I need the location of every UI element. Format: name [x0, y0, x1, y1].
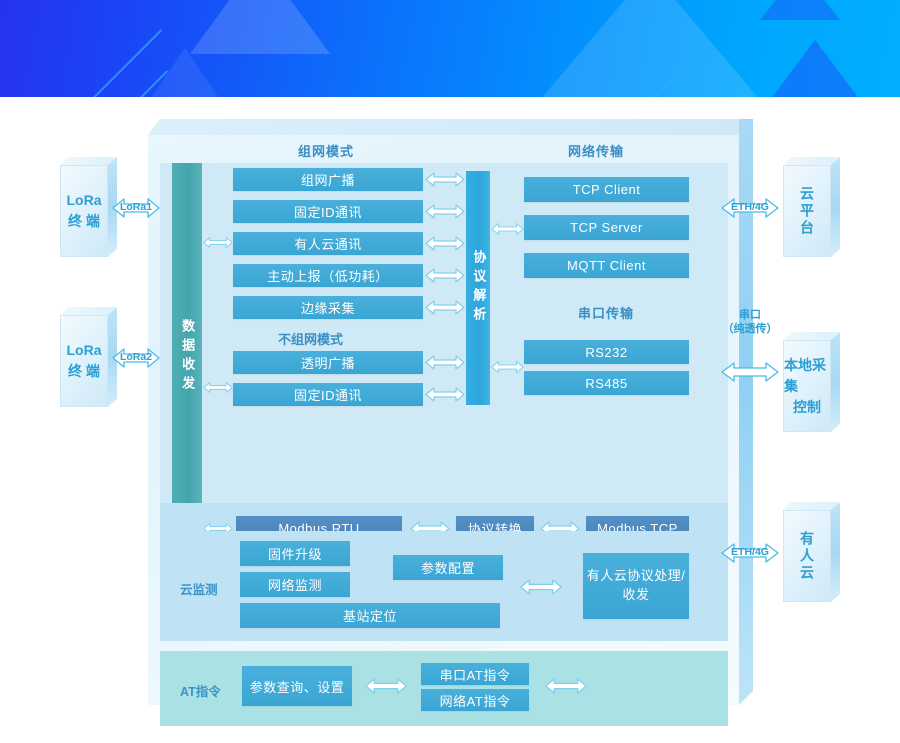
section-title-networking-mode: 组网模式	[298, 141, 354, 160]
lora-terminal-2-line2: 终 端	[68, 361, 100, 382]
section-title-serial-transmission: 串口传输	[578, 303, 634, 322]
device-container: 组网模式 网络传输 数据收发 协议解析 组网广播 固定ID通讯 有人云通讯 主动…	[148, 135, 739, 705]
cube-front-face: 云平台	[783, 165, 831, 257]
box-edge-collection[interactable]: 边缘采集	[233, 296, 423, 319]
bar-protocol-parse: 协议解析	[466, 171, 490, 405]
box-tcp-client[interactable]: TCP Client	[524, 177, 689, 202]
section-title-network-transmission: 网络传输	[568, 141, 624, 160]
header-banner	[0, 0, 900, 97]
bar-data-transceive-label: 数据收发	[177, 319, 197, 395]
box-firmware-upgrade[interactable]: 固件升级	[240, 541, 350, 566]
arrow-serial-local-collection	[721, 361, 779, 383]
serial-link-label-line2: （纯透传）	[721, 323, 779, 337]
arrow-param-query-to-at	[360, 678, 412, 694]
arrow-edge-collection	[425, 300, 465, 315]
box-usr-cloud-comm[interactable]: 有人云通讯	[233, 232, 423, 255]
lora1-link-label: LoRa1	[112, 201, 160, 213]
arrow-lora1-link: LoRa1	[112, 197, 160, 219]
serial-link-label-group: 串口 （纯透传）	[721, 309, 779, 337]
box-param-query-setting[interactable]: 参数查询、设置	[242, 666, 352, 706]
arrow-lora2-link: LoRa2	[112, 347, 160, 369]
cube-front-face: LoRa 终 端	[60, 165, 108, 257]
cube-side-face	[831, 502, 840, 602]
eth4g-usr-cloud-label: ETH/4G	[721, 546, 779, 558]
eth4g-cloud-label: ETH/4G	[721, 201, 779, 213]
lora2-link-label: LoRa2	[112, 351, 160, 363]
lora-terminal-1-line2: 终 端	[68, 211, 100, 232]
usr-cloud-protocol-line2: 收发	[622, 586, 649, 605]
decor-triangle-1	[190, 0, 330, 54]
arrow-cloud-monitor-to-usr	[516, 579, 566, 595]
container-top-face	[148, 119, 751, 135]
lora-terminal-2-line1: LoRa	[67, 340, 102, 361]
arrow-eth4g-usr-cloud: ETH/4G	[721, 542, 779, 564]
at-command-label: AT指令	[180, 681, 221, 700]
arrow-fixed-id-comm-2	[425, 387, 465, 402]
box-param-config[interactable]: 参数配置	[393, 555, 503, 580]
box-network-at-command[interactable]: 网络AT指令	[421, 689, 529, 711]
decor-triangle-2	[125, 48, 245, 97]
box-network-monitor[interactable]: 网络监测	[240, 572, 350, 597]
cube-side-face	[831, 157, 840, 257]
decor-triangle-5	[760, 0, 840, 20]
arrow-fixed-id-comm	[425, 204, 465, 219]
serial-link-label-line1: 串口	[721, 309, 779, 323]
box-fixed-id-comm-2[interactable]: 固定ID通讯	[233, 383, 423, 406]
arrow-networking-broadcast	[425, 172, 465, 187]
arrow-active-report	[425, 268, 465, 283]
section-title-non-networking-mode: 不组网模式	[278, 329, 343, 348]
box-active-report-low-power[interactable]: 主动上报（低功耗）	[233, 264, 423, 287]
cloud-platform-label: 云平台	[797, 186, 817, 237]
cube-side-face	[831, 332, 840, 432]
box-rs232[interactable]: RS232	[524, 340, 689, 364]
box-networking-broadcast[interactable]: 组网广播	[233, 168, 423, 191]
box-rs485[interactable]: RS485	[524, 371, 689, 395]
lora-terminal-1-line1: LoRa	[67, 190, 102, 211]
arrow-proto-to-network	[491, 221, 524, 237]
local-collection-line2: 控制	[793, 397, 821, 418]
usr-cloud-label: 有人云	[797, 531, 817, 582]
arrow-transparent-broadcast	[425, 355, 465, 370]
box-base-station-location[interactable]: 基站定位	[240, 603, 500, 628]
usr-cloud-protocol-line1: 有人云协议处理/	[587, 567, 686, 586]
cube-front-face: LoRa 终 端	[60, 315, 108, 407]
decor-triangle-4	[755, 40, 875, 97]
bar-data-transceive: 数据收发	[172, 163, 202, 526]
box-tcp-server[interactable]: TCP Server	[524, 215, 689, 240]
box-fixed-id-comm[interactable]: 固定ID通讯	[233, 200, 423, 223]
local-collection-line1: 本地采集	[784, 355, 830, 397]
arrow-eth4g-cloud-platform: ETH/4G	[721, 197, 779, 219]
arrow-data-to-networking	[203, 235, 233, 250]
box-mqtt-client[interactable]: MQTT Client	[524, 253, 689, 278]
decor-triangle-3	[540, 0, 760, 97]
arrow-at-command-out	[540, 678, 592, 694]
bar-protocol-parse-label: 协议解析	[468, 250, 489, 326]
arrow-data-to-non-networking	[203, 380, 233, 395]
architecture-diagram: 组网模式 网络传输 数据收发 协议解析 组网广播 固定ID通讯 有人云通讯 主动…	[0, 97, 900, 743]
cube-front-face: 有人云	[783, 510, 831, 602]
cube-front-face: 本地采集 控制	[783, 340, 831, 432]
box-serial-at-command[interactable]: 串口AT指令	[421, 663, 529, 685]
cloud-monitor-label: 云监测	[180, 579, 218, 598]
arrow-proto-to-serial	[491, 359, 524, 375]
box-transparent-broadcast[interactable]: 透明广播	[233, 351, 423, 374]
box-usr-cloud-protocol[interactable]: 有人云协议处理/ 收发	[583, 553, 689, 619]
arrow-usr-cloud-comm	[425, 236, 465, 251]
